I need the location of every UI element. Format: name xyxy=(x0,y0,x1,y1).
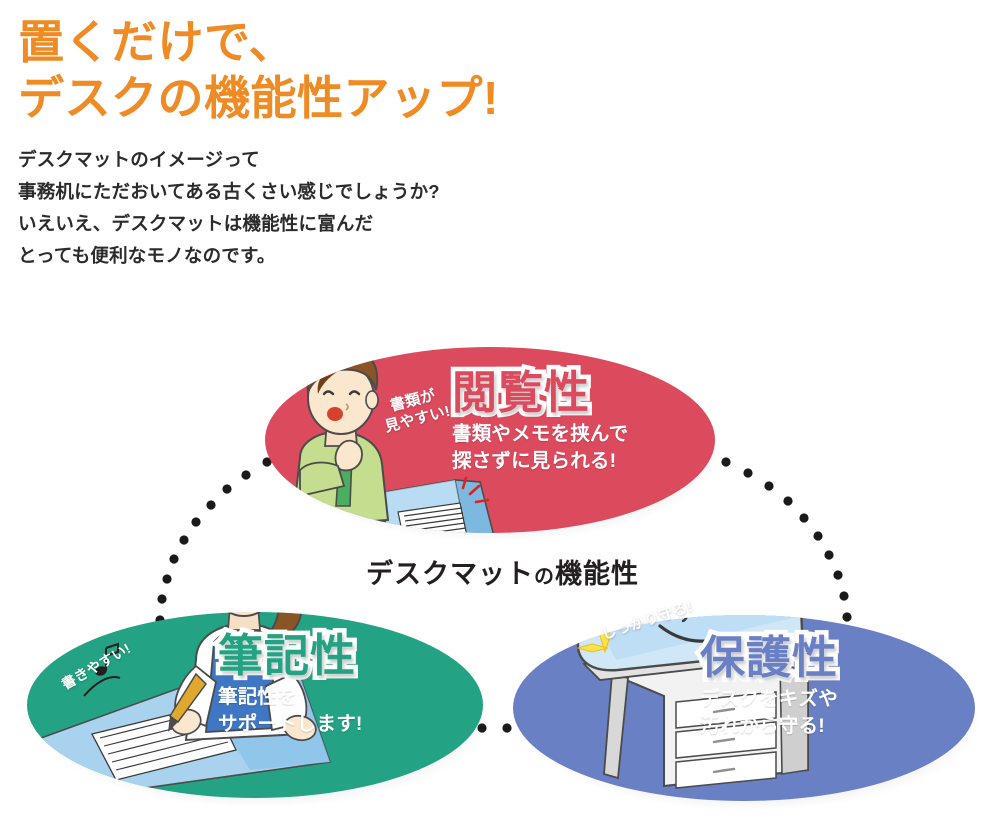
node-readability-description: 書類やメモを挟んで 探さずに見られる! xyxy=(452,421,628,475)
node-protection-description: デスクをキズや 汚れから守る! xyxy=(700,686,838,740)
intro-line-4: とっても便利なモノなのです。 xyxy=(18,240,718,272)
diagram-center-label: デスクマットの機能性 xyxy=(0,552,1005,591)
node-readability-text: 閲覧性 書類やメモを挟んで 探さずに見られる! xyxy=(452,370,628,475)
node-readability-title: 閲覧性 xyxy=(452,370,628,415)
node-writability-description: 筆記性を サポートします! xyxy=(218,684,363,738)
center-label-main: デスクマット xyxy=(366,559,534,589)
node-writability-title: 筆記性 xyxy=(218,633,363,678)
functionality-diagram: デスクマットの機能性 閲覧性 書類やメモを挟んで 探さずに見られる! 書類が 見… xyxy=(0,330,1005,825)
intro-line-2: 事務机にただおいてある古くさい感じでしょうか? xyxy=(18,176,718,208)
node-writability-text: 筆記性 筆記性を サポートします! xyxy=(218,633,363,738)
node-protection-text: 保護性 デスクをキズや 汚れから守る! xyxy=(700,635,838,740)
intro-line-1: デスクマットのイメージって xyxy=(18,144,718,176)
center-label-particle: の xyxy=(534,566,555,588)
intro-paragraph: デスクマットのイメージって 事務机にただおいてある古くさい感じでしょうか? いえ… xyxy=(18,126,718,271)
header: 置くだけで、 デスクの機能性アップ! デスクマットのイメージって 事務机にただお… xyxy=(18,14,718,271)
intro-line-3: いえいえ、デスクマットは機能性に富んだ xyxy=(18,208,718,240)
headline-line-2: デスクの機能性アップ! xyxy=(18,70,718,126)
headline-line-1: 置くだけで、 xyxy=(18,16,295,68)
node-protection-title: 保護性 xyxy=(700,635,838,680)
page-title: 置くだけで、 デスクの機能性アップ! xyxy=(18,14,718,126)
center-label-tail: 機能性 xyxy=(555,559,639,589)
